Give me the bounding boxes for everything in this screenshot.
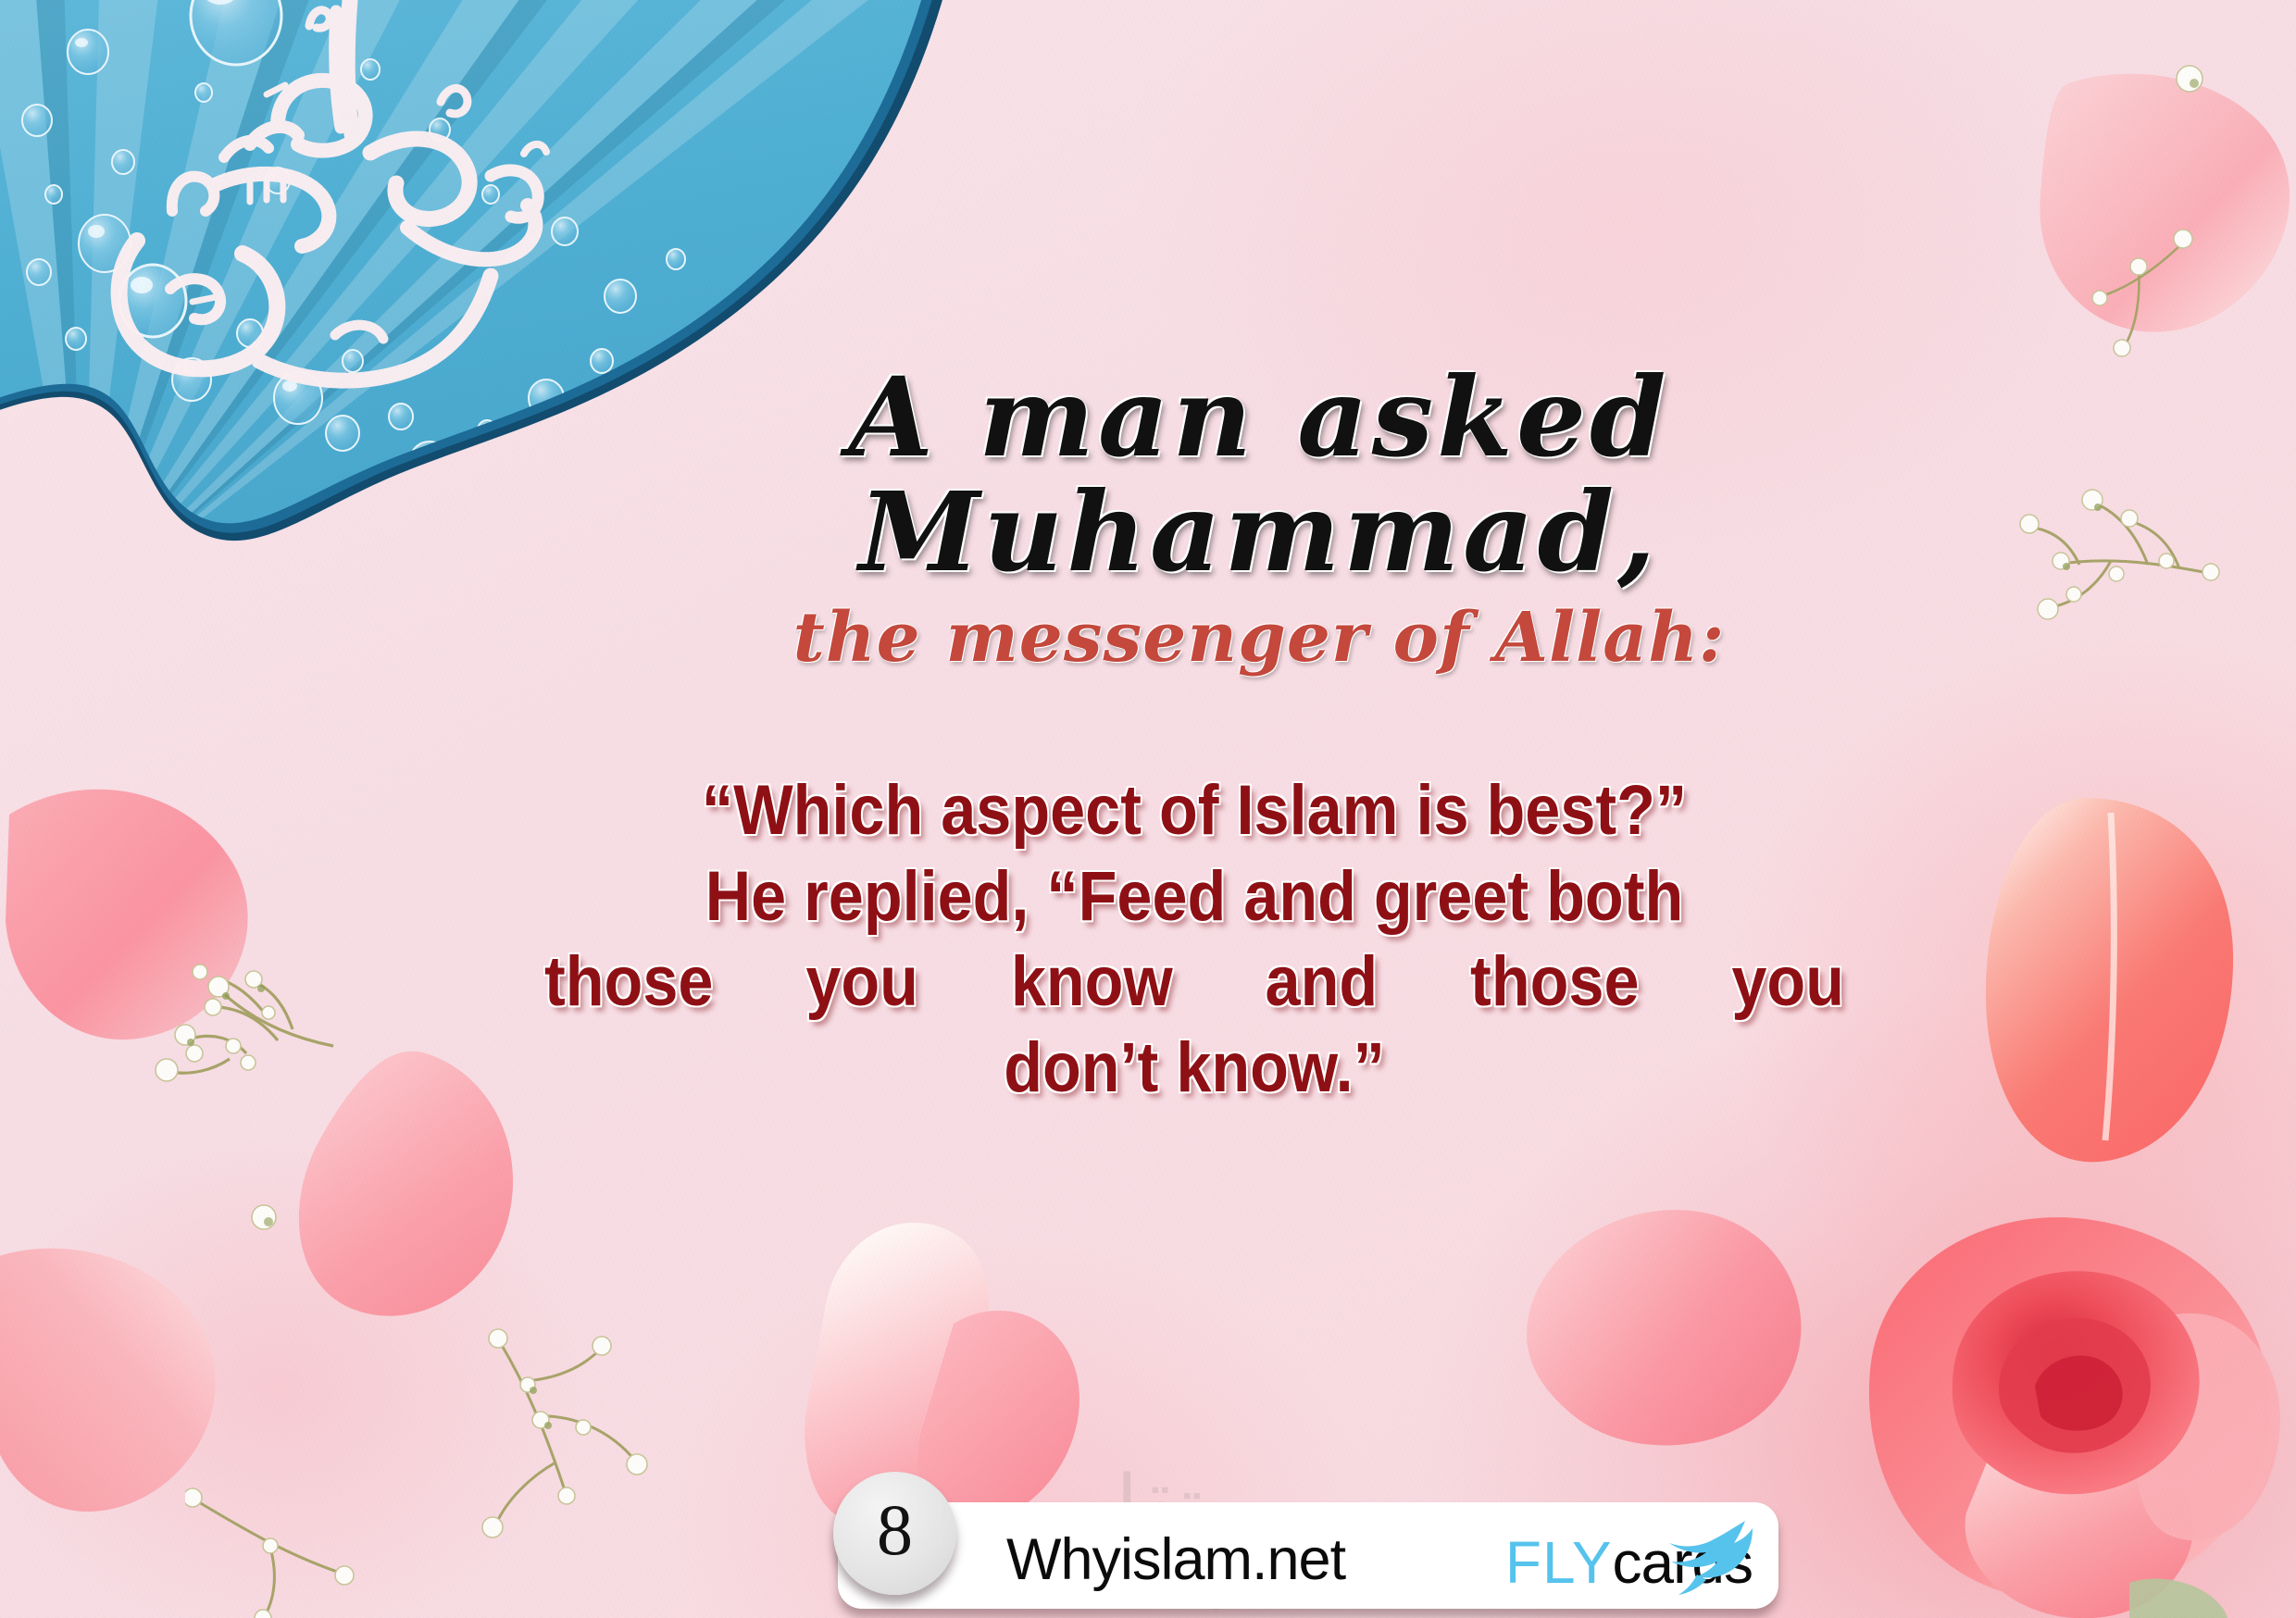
tulip-petal xyxy=(1926,796,2296,1185)
flycards-fly-text: FLY xyxy=(1505,1528,1613,1597)
babys-breath-bud xyxy=(2148,37,2231,120)
rose-petal xyxy=(268,1046,574,1351)
quote-line-2: He replied, “Feed and greet both xyxy=(544,854,1844,940)
flycards-logo[interactable]: FLY cards xyxy=(1505,1528,1753,1597)
headline-line-2: Muhammad, xyxy=(472,476,2046,589)
headline-block: A man asked Muhammad, the messenger of A… xyxy=(472,361,2046,676)
card-number-badge: 8 xyxy=(833,1472,956,1595)
babys-breath-bud xyxy=(222,1176,306,1259)
rose-petal xyxy=(0,759,389,1092)
quote-block: “Which aspect of Islam is best?” He repl… xyxy=(544,768,1844,1112)
website-label[interactable]: Whyislam.net xyxy=(1006,1526,1345,1593)
quote-line-4: don’t know.” xyxy=(544,1026,1844,1112)
quote-line-3: those you know and those you xyxy=(544,940,1844,1026)
bird-icon xyxy=(1656,1515,1758,1599)
babys-breath-sprig xyxy=(444,1314,676,1546)
babys-breath-sprig xyxy=(185,1481,398,1618)
rose-petal xyxy=(1518,1194,1833,1462)
headline-line-1: A man asked xyxy=(472,361,2046,474)
babys-breath-sprig xyxy=(130,907,352,1120)
rose-petal xyxy=(2028,56,2296,361)
quote-line-1: “Which aspect of Islam is best?” xyxy=(544,768,1844,854)
greeting-card: A man asked Muhammad, the messenger of A… xyxy=(0,0,2296,1618)
footer-bar: 8 Whyislam.net FLY cards xyxy=(838,1502,1778,1609)
rose-petal xyxy=(0,1222,324,1527)
rose-bloom xyxy=(1852,1139,2296,1618)
headline-subtitle: the messenger of Allah: xyxy=(472,601,2046,676)
card-number: 8 xyxy=(877,1494,913,1566)
